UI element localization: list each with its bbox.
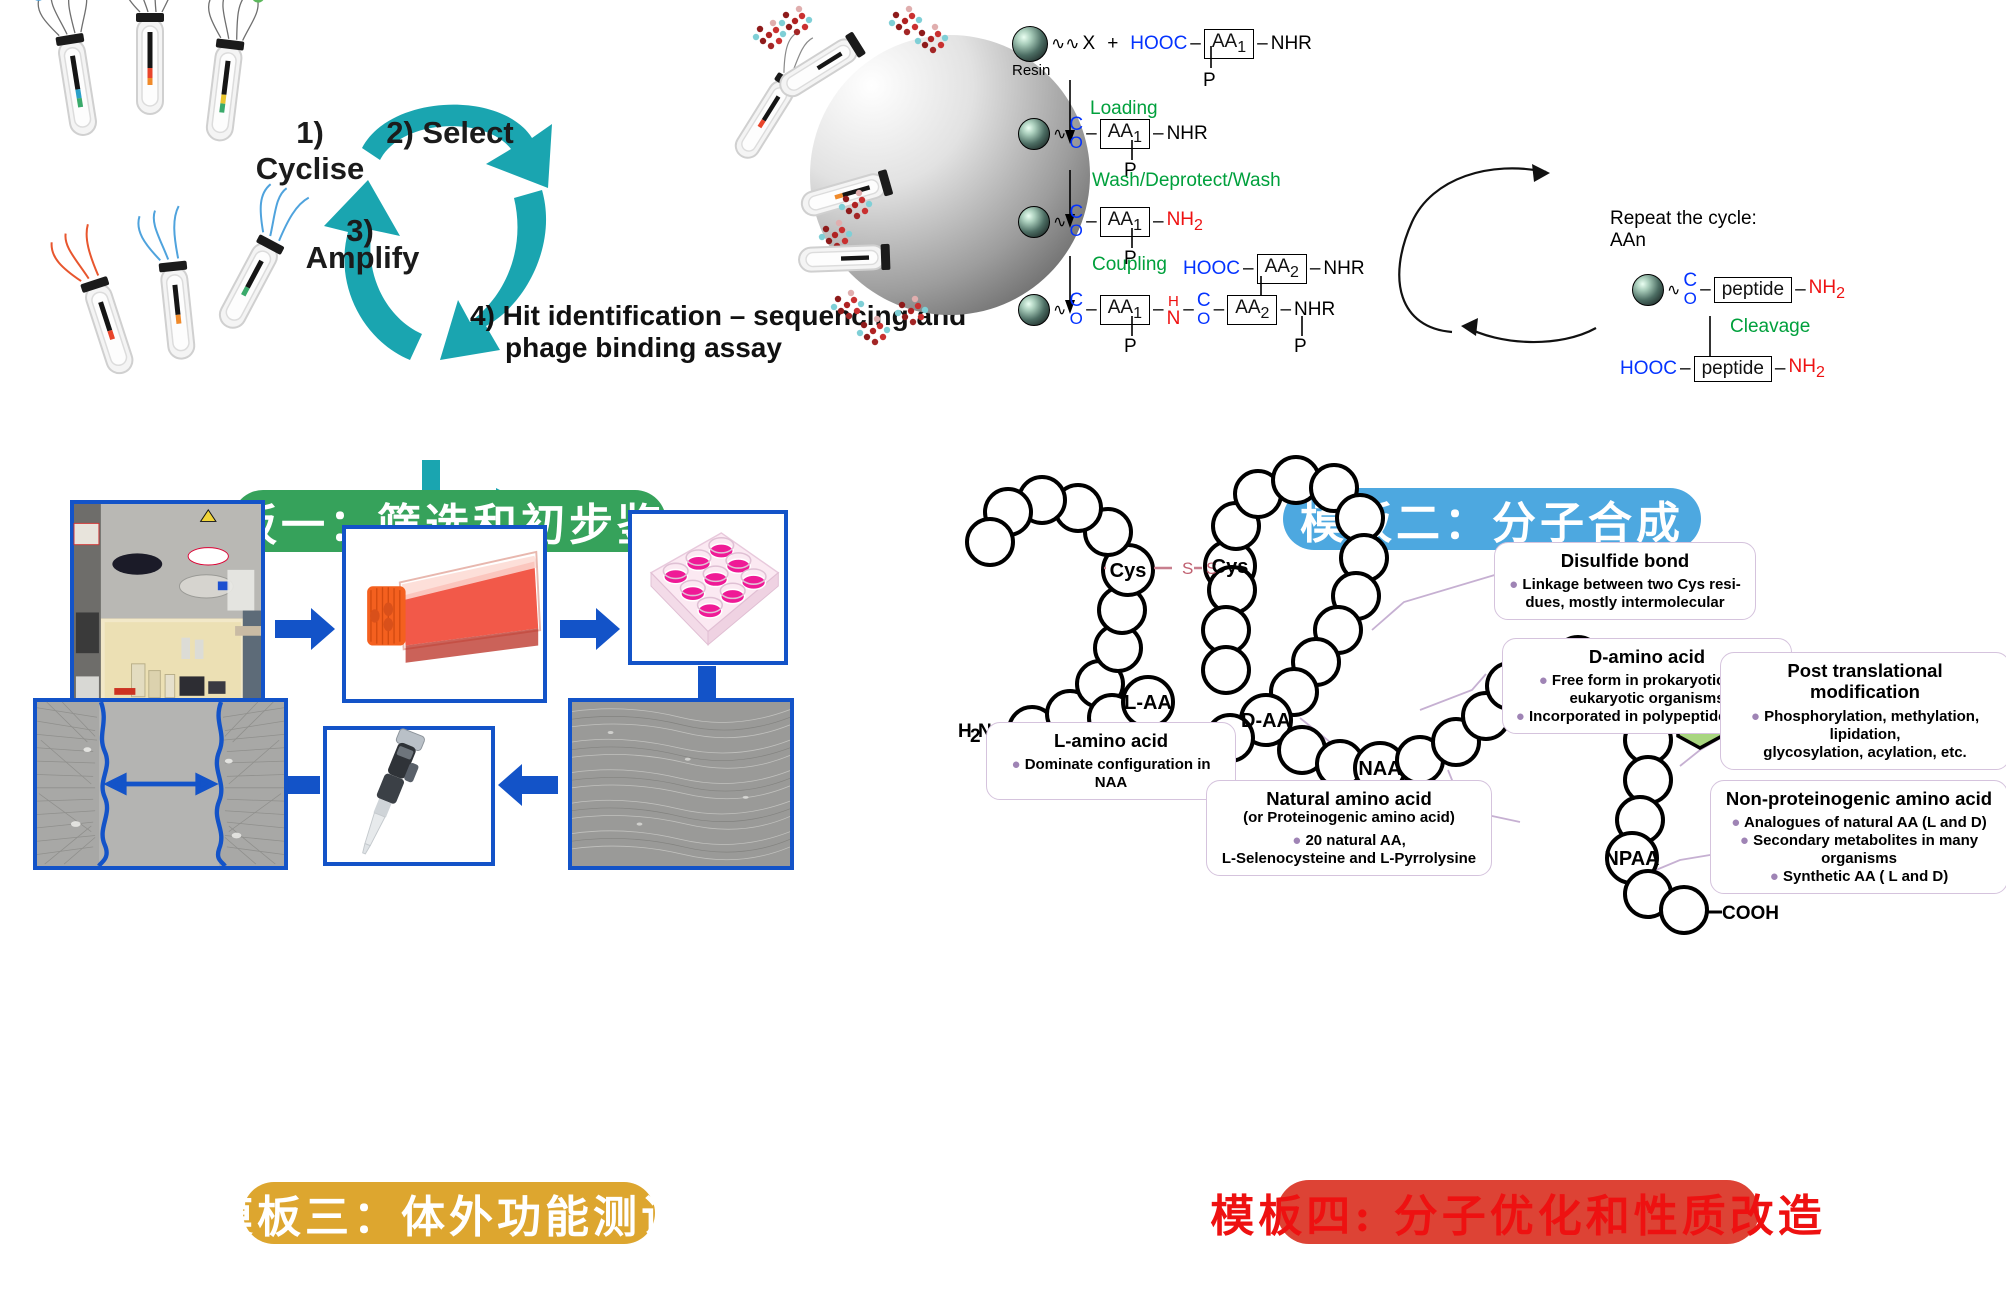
callout-title: L-amino acid (999, 730, 1223, 751)
confluent-cell-monolayer-photo (568, 698, 794, 870)
bullet-icon: ● (1539, 672, 1548, 689)
spps-step-deprotected: ∿ CO – AA1 – NH2 (1018, 204, 1203, 240)
bond-15: – (1795, 279, 1806, 301)
bond-9: – (1086, 299, 1097, 321)
resin-bead-icon-5 (1632, 274, 1664, 306)
panel-in-vitro-assay (0, 470, 1000, 1170)
bond-14: – (1700, 279, 1711, 301)
resin-bead-icon-3 (1018, 206, 1050, 238)
carbonyl-group-5: CO (1683, 272, 1697, 308)
bullet-icon: ● (1509, 576, 1518, 593)
scratch-wound-healing-assay-photo (33, 698, 288, 870)
hooc-label-2: HOOC (1183, 258, 1240, 280)
callout-title: Disulfide bond (1507, 550, 1743, 571)
culture-flask-photo (342, 525, 547, 703)
amine-label-1: NH2 (1167, 209, 1203, 235)
callout-l-amino-acid: L-amino acid ● Dominate configuration in… (986, 722, 1236, 800)
resin-x-label: X (1083, 33, 1096, 55)
bond-11: – (1183, 299, 1194, 321)
repeat-cycle-label-line1: Repeat the cycle: (1610, 208, 1757, 230)
bond-7: – (1243, 258, 1254, 280)
bullet-icon: ● (1731, 814, 1740, 831)
bond-1: – (1190, 33, 1201, 55)
callout-line: Dominate configuration in NAA (1025, 756, 1211, 791)
bullet-icon: ● (1770, 868, 1779, 885)
banner-template-3: 模板三：体外功能测试 (243, 1182, 655, 1244)
nhr-label-2: NHR (1167, 123, 1208, 145)
peptide-box-2: peptide (1694, 356, 1772, 382)
protecting-group-label-1: P (1203, 70, 1216, 92)
bond-3: – (1086, 123, 1097, 145)
bond-13: – (1280, 299, 1291, 321)
bullet-icon: ● (1516, 708, 1525, 725)
pipette-photo (323, 726, 495, 866)
svg-text:S: S (1182, 559, 1193, 578)
callout-line: L-Selenocysteine and L-Pyrrolysine (1222, 850, 1476, 867)
resin-bead-icon-4 (1018, 294, 1050, 326)
bond-2: – (1257, 33, 1268, 55)
bond-12: – (1214, 299, 1225, 321)
panel-molecular-synthesis: ∿∿ X + HOOC – AA1 – NHR Resin P Loading … (1000, 0, 2006, 470)
spps-final-peptide: HOOC – peptide – NH2 (1620, 356, 1825, 382)
plus-sign: + (1107, 33, 1118, 55)
amine-label-2: NH2 (1809, 277, 1845, 303)
aa2-box-2: AA2 (1227, 295, 1277, 325)
c-terminus-label: COOH (1707, 903, 1779, 924)
bond-8: – (1310, 258, 1321, 280)
coupling-step-label: Coupling (1092, 254, 1167, 276)
multiwell-plate-photo (628, 510, 788, 665)
squiggle-linker: ∿∿ (1051, 34, 1080, 54)
callout-title: Post translational modification (1733, 660, 1997, 703)
callout-line: dues, mostly intermolecular (1525, 594, 1724, 611)
squiggle-linker-4: ∿ (1053, 300, 1066, 320)
callout-line: Linkage between two Cys resi- (1522, 576, 1740, 593)
bullet-icon: ● (1740, 832, 1749, 849)
panel-molecular-optimization: .res{fill:#fff;stroke:#000;stroke-width:… (1000, 470, 2006, 1170)
callout-post-translational-modification: Post translational modification ● Phosph… (1720, 652, 2006, 770)
cleavage-step-label: Cleavage (1730, 316, 1810, 338)
callout-non-proteinogenic-amino-acid: Non-proteinogenic amino acid ● Analogues… (1710, 780, 2006, 894)
hooc-label-3: HOOC (1620, 358, 1677, 380)
callout-line: glycosylation, acylation, etc. (1763, 744, 1966, 761)
bond-5: – (1086, 211, 1097, 233)
spps-step-loaded: ∿ CO – AA1 – NHR (1018, 116, 1208, 152)
cycle-step-1-label: 1) Cyclise (245, 115, 375, 186)
workflow-arrow-2 (560, 608, 622, 650)
svg-text:D-AA: D-AA (1241, 710, 1291, 732)
bond-16: – (1680, 358, 1691, 380)
bond-17: – (1775, 358, 1786, 380)
carbonyl-group-4: CO (1197, 292, 1211, 328)
svg-text:Cys: Cys (1110, 560, 1147, 582)
nhr-label-1: NHR (1271, 33, 1312, 55)
carbonyl-group-3: CO (1069, 292, 1083, 328)
wash-deprotect-step-label: Wash/Deprotect/Wash (1092, 170, 1281, 192)
repeat-cycle-label-line2: AAn (1610, 230, 1646, 252)
callout-subtitle: (or Proteinogenic amino acid) (1219, 809, 1479, 826)
resin-caption: Resin (1012, 62, 1050, 79)
squiggle-linker-3: ∿ (1053, 212, 1066, 232)
resin-bead-icon (1012, 26, 1048, 62)
bullet-icon: ● (1751, 708, 1760, 725)
spps-step-start: ∿∿ X + HOOC – AA1 – NHR (1012, 26, 1312, 62)
banner-3-text: 模板三：体外功能测试 (209, 1181, 689, 1245)
callout-line: Synthetic AA ( L and D) (1783, 868, 1948, 885)
protecting-group-label-5: P (1124, 336, 1137, 358)
panel-screening-identification: 1) Cyclise 2) Select 3) Amplify 4) Hit i… (0, 0, 1000, 470)
cycle-step-3-label-line2: Amplify (305, 240, 420, 276)
nhr-label-3: NHR (1323, 258, 1364, 280)
svg-text:COOH: COOH (1722, 903, 1779, 924)
svg-text:NAA: NAA (1358, 758, 1401, 780)
callout-line: Analogues of natural AA (L and D) (1744, 814, 1987, 831)
workflow-arrow-4 (498, 764, 560, 806)
banner-4-text: 模板四: 分子优化和性质改造 (1210, 1180, 1826, 1244)
bullet-icon: ● (1292, 832, 1301, 849)
workflow-arrow-1 (275, 608, 337, 650)
spps-step-resin-peptide: ∿ CO – peptide – NH2 (1632, 272, 1845, 308)
callout-line: 20 natural AA, (1305, 832, 1405, 849)
callout-line: Phosphorylation, methylation, lipidation… (1764, 708, 1979, 743)
callout-line: Secondary metabolites in many organisms (1753, 832, 1978, 867)
peptide-box-1: peptide (1714, 277, 1792, 303)
callout-title: Natural amino acid (1219, 788, 1479, 809)
hooc-label-1: HOOC (1130, 33, 1187, 55)
squiggle-linker-5: ∿ (1667, 280, 1680, 300)
squiggle-linker-2: ∿ (1053, 124, 1066, 144)
carbonyl-group-1: CO (1069, 116, 1083, 152)
spps-step-dipeptide: ∿ CO – AA1 – HN – CO – AA2 – NHR (1018, 292, 1335, 328)
callout-natural-amino-acid: Natural amino acid (or Proteinogenic ami… (1206, 780, 1492, 876)
protecting-group-label-6: P (1294, 336, 1307, 358)
banner-template-4: 模板四: 分子优化和性质改造 (1277, 1180, 1759, 1244)
callout-disulfide-bond: Disulfide bond ● Linkage between two Cys… (1494, 542, 1756, 620)
cycle-step-2-label: 2) Select (385, 115, 515, 151)
svg-text:NPAA: NPAA (1604, 848, 1659, 870)
amide-nitrogen: HN (1167, 292, 1181, 328)
callout-title: Non-proteinogenic amino acid (1723, 788, 1995, 809)
resin-bead-icon-2 (1018, 118, 1050, 150)
carbonyl-group-2: CO (1069, 204, 1083, 240)
bullet-icon: ● (1011, 756, 1020, 773)
callout-line: eukaryotic organisms (1569, 690, 1724, 707)
target-bead-selection-artwork (735, 5, 1005, 375)
repeat-cycle-arrow (1360, 160, 1660, 350)
amine-label-3: NH2 (1789, 356, 1825, 382)
svg-text:L-AA: L-AA (1124, 692, 1172, 714)
svg-text:Cys: Cys (1212, 556, 1249, 578)
